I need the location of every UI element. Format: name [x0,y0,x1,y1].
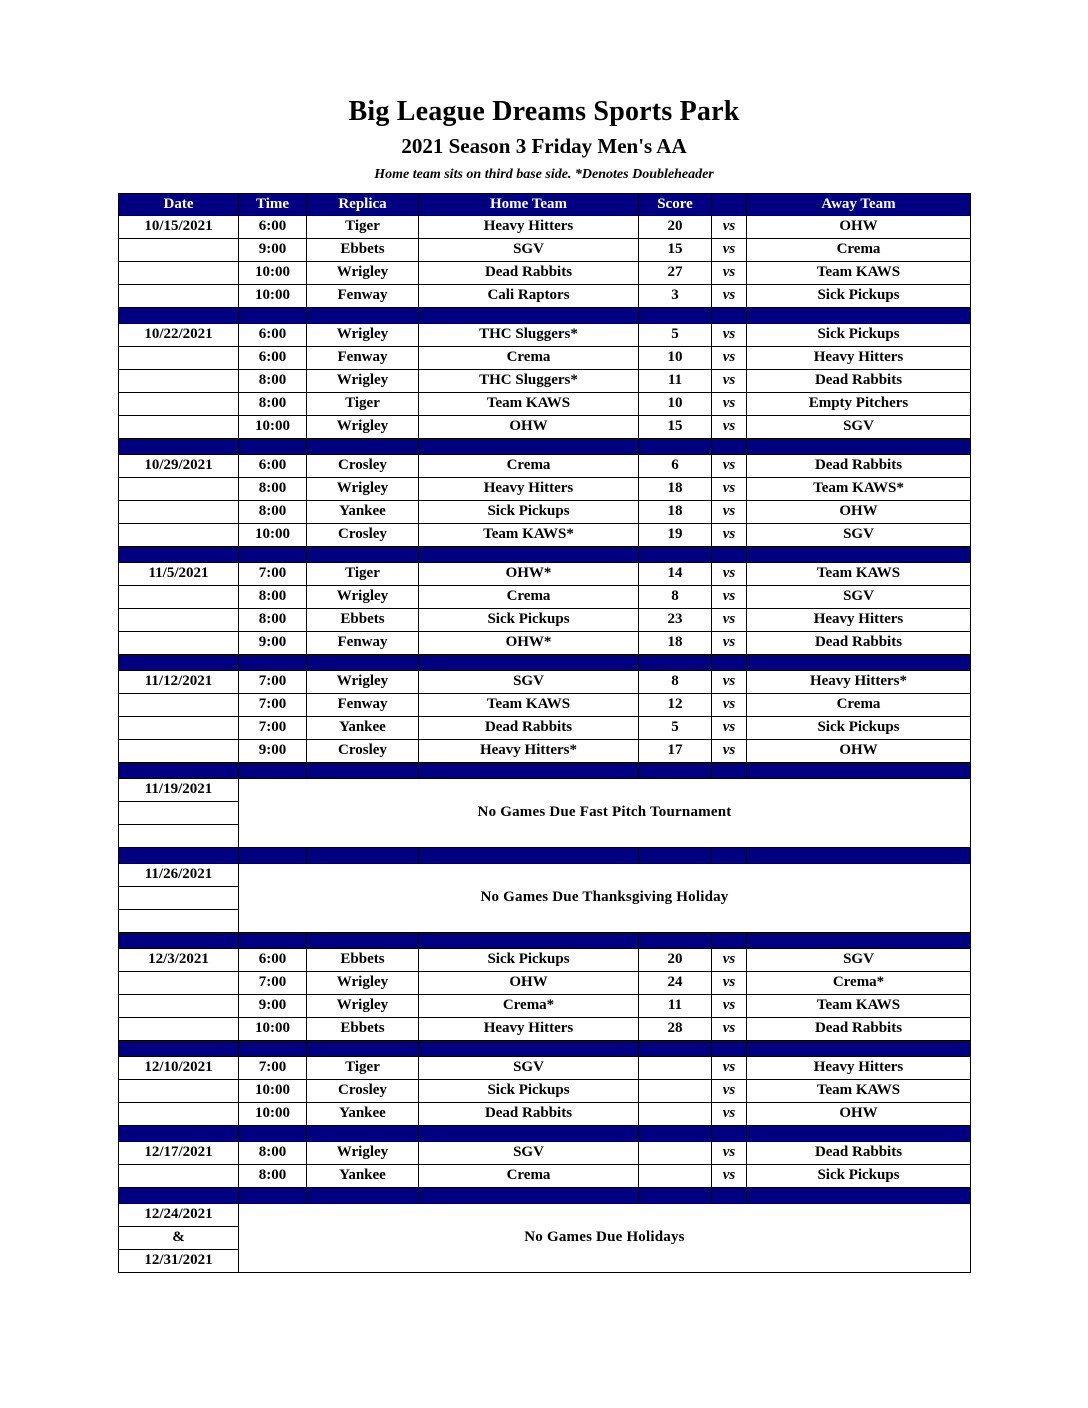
game-score: 10 [639,346,712,369]
game-time: 8:00 [239,369,307,392]
separator-cell [239,762,307,778]
separator-cell [119,1040,239,1056]
home-team: OHW [419,415,639,438]
no-games-date: 12/24/2021 [119,1203,239,1226]
versus-label: vs [712,948,747,971]
table-row: 11/12/20217:00WrigleySGV8vsHeavy Hitters… [119,670,971,693]
game-date: 10/29/2021 [119,454,239,477]
home-team: THC Sluggers* [419,323,639,346]
versus-label: vs [712,1102,747,1125]
game-time: 6:00 [239,215,307,238]
away-team: Heavy Hitters [747,608,971,631]
table-header-row: Date Time Replica Home Team Score Away T… [119,193,971,215]
block-separator-row [119,1040,971,1056]
separator-cell [119,654,239,670]
table-row: 10:00CrosleySick PickupsvsTeam KAWS [119,1079,971,1102]
no-games-date-empty [119,909,239,932]
game-time: 8:00 [239,392,307,415]
separator-cell [419,654,639,670]
versus-label: vs [712,1079,747,1102]
no-games-row: 11/26/2021No Games Due Thanksgiving Holi… [119,863,971,886]
schedule-table-wrapper: Date Time Replica Home Team Score Away T… [118,193,970,1273]
away-team: Crema [747,238,971,261]
game-time: 10:00 [239,261,307,284]
separator-cell [639,438,712,454]
game-replica-field: Yankee [307,500,419,523]
versus-label: vs [712,1056,747,1079]
game-date: 11/12/2021 [119,670,239,693]
separator-cell [712,654,747,670]
table-row: 9:00CrosleyHeavy Hitters*17vsOHW [119,739,971,762]
separator-cell [307,1040,419,1056]
table-row: 10:00WrigleyDead Rabbits27vsTeam KAWS [119,261,971,284]
game-date-empty [119,693,239,716]
game-score: 11 [639,369,712,392]
game-time: 10:00 [239,284,307,307]
separator-cell [419,762,639,778]
separator-cell [239,847,307,863]
table-row: 12/10/20217:00TigerSGVvsHeavy Hitters [119,1056,971,1079]
game-time: 7:00 [239,562,307,585]
column-header-home: Home Team [419,193,639,215]
game-time: 6:00 [239,948,307,971]
game-score [639,1102,712,1125]
separator-cell [747,307,971,323]
away-team: Team KAWS [747,562,971,585]
separator-cell [119,546,239,562]
game-replica-field: Wrigley [307,670,419,693]
home-team: Team KAWS* [419,523,639,546]
separator-cell [747,546,971,562]
block-separator-row [119,1187,971,1203]
game-date-empty [119,739,239,762]
versus-label: vs [712,369,747,392]
game-time: 6:00 [239,346,307,369]
game-time: 10:00 [239,415,307,438]
game-date-empty [119,994,239,1017]
home-team: Team KAWS [419,392,639,415]
game-score: 14 [639,562,712,585]
block-separator-row [119,654,971,670]
game-score [639,1056,712,1079]
table-row: 10:00WrigleyOHW15vsSGV [119,415,971,438]
separator-cell [712,1125,747,1141]
game-time: 7:00 [239,693,307,716]
versus-label: vs [712,346,747,369]
away-team: Team KAWS [747,994,971,1017]
no-games-date: & [119,1226,239,1249]
versus-label: vs [712,994,747,1017]
separator-cell [239,1187,307,1203]
game-time: 9:00 [239,238,307,261]
separator-cell [747,438,971,454]
separator-cell [639,1125,712,1141]
game-date-empty [119,369,239,392]
game-replica-field: Ebbets [307,1017,419,1040]
game-score: 15 [639,415,712,438]
document-header: Big League Dreams Sports Park 2021 Seaso… [0,0,1088,183]
game-score: 24 [639,971,712,994]
home-team: SGV [419,238,639,261]
game-time: 9:00 [239,631,307,654]
table-row: 10/22/20216:00WrigleyTHC Sluggers*5vsSic… [119,323,971,346]
separator-cell [239,546,307,562]
separator-cell [119,932,239,948]
versus-label: vs [712,477,747,500]
away-team: Crema* [747,971,971,994]
away-team: Sick Pickups [747,323,971,346]
game-score [639,1141,712,1164]
table-row: 6:00FenwayCrema10vsHeavy Hitters [119,346,971,369]
game-date: 10/15/2021 [119,215,239,238]
game-replica-field: Crosley [307,523,419,546]
game-score: 6 [639,454,712,477]
game-replica-field: Fenway [307,346,419,369]
versus-label: vs [712,392,747,415]
separator-cell [119,847,239,863]
table-row: 7:00FenwayTeam KAWS12vsCrema [119,693,971,716]
versus-label: vs [712,1141,747,1164]
game-replica-field: Yankee [307,716,419,739]
column-header-score: Score [639,193,712,215]
game-date-empty [119,631,239,654]
no-games-message: No Games Due Fast Pitch Tournament [239,778,971,847]
game-replica-field: Yankee [307,1164,419,1187]
away-team: OHW [747,215,971,238]
page-note: Home team sits on third base side. *Deno… [0,167,1088,183]
block-separator-row [119,546,971,562]
home-team: Crema* [419,994,639,1017]
no-games-date-empty [119,824,239,847]
away-team: Dead Rabbits [747,1141,971,1164]
game-replica-field: Crosley [307,739,419,762]
game-replica-field: Yankee [307,1102,419,1125]
game-replica-field: Ebbets [307,948,419,971]
home-team: Dead Rabbits [419,716,639,739]
no-games-message: No Games Due Thanksgiving Holiday [239,863,971,932]
game-date-empty [119,1164,239,1187]
separator-cell [712,1187,747,1203]
versus-label: vs [712,739,747,762]
game-replica-field: Wrigley [307,585,419,608]
column-header-away: Away Team [747,193,971,215]
column-header-time: Time [239,193,307,215]
separator-cell [639,847,712,863]
away-team: Dead Rabbits [747,454,971,477]
separator-cell [307,438,419,454]
game-date-empty [119,284,239,307]
separator-cell [307,762,419,778]
game-replica-field: Fenway [307,693,419,716]
game-score: 5 [639,323,712,346]
game-score: 10 [639,392,712,415]
no-games-message: No Games Due Holidays [239,1203,971,1272]
separator-cell [419,1125,639,1141]
separator-cell [119,438,239,454]
game-score: 18 [639,631,712,654]
game-date-empty [119,1102,239,1125]
game-score: 11 [639,994,712,1017]
game-time: 7:00 [239,1056,307,1079]
game-time: 10:00 [239,1102,307,1125]
home-team: Cali Raptors [419,284,639,307]
separator-cell [119,1125,239,1141]
game-score: 8 [639,670,712,693]
versus-label: vs [712,1164,747,1187]
separator-cell [307,654,419,670]
separator-cell [239,654,307,670]
game-replica-field: Wrigley [307,971,419,994]
away-team: Sick Pickups [747,284,971,307]
separator-cell [712,546,747,562]
home-team: OHW* [419,562,639,585]
table-row: 8:00WrigleyTHC Sluggers*11vsDead Rabbits [119,369,971,392]
separator-cell [712,438,747,454]
home-team: Sick Pickups [419,1079,639,1102]
versus-label: vs [712,693,747,716]
separator-cell [712,1040,747,1056]
versus-label: vs [712,608,747,631]
game-time: 10:00 [239,1017,307,1040]
game-date-empty [119,716,239,739]
table-row: 8:00YankeeSick Pickups18vsOHW [119,500,971,523]
versus-label: vs [712,716,747,739]
versus-label: vs [712,284,747,307]
table-row: 9:00WrigleyCrema*11vsTeam KAWS [119,994,971,1017]
game-time: 8:00 [239,585,307,608]
game-date-empty [119,500,239,523]
game-time: 10:00 [239,1079,307,1102]
away-team: OHW [747,739,971,762]
game-date-empty [119,392,239,415]
separator-cell [119,1187,239,1203]
game-time: 7:00 [239,971,307,994]
separator-cell [307,1187,419,1203]
game-score: 19 [639,523,712,546]
table-row: 8:00WrigleyCrema8vsSGV [119,585,971,608]
game-score [639,1164,712,1187]
game-score: 18 [639,477,712,500]
away-team: OHW [747,500,971,523]
game-replica-field: Tiger [307,392,419,415]
game-time: 8:00 [239,608,307,631]
home-team: SGV [419,1056,639,1079]
game-time: 9:00 [239,994,307,1017]
home-team: OHW [419,971,639,994]
separator-cell [419,932,639,948]
block-separator-row [119,762,971,778]
versus-label: vs [712,1017,747,1040]
game-replica-field: Ebbets [307,238,419,261]
game-score: 5 [639,716,712,739]
versus-label: vs [712,215,747,238]
game-replica-field: Ebbets [307,608,419,631]
away-team: Team KAWS [747,1079,971,1102]
away-team: Empty Pitchers [747,392,971,415]
away-team: SGV [747,948,971,971]
separator-cell [119,307,239,323]
block-separator-row [119,1125,971,1141]
game-date: 10/22/2021 [119,323,239,346]
game-date-empty [119,523,239,546]
separator-cell [239,1125,307,1141]
no-games-date-empty [119,886,239,909]
away-team: Sick Pickups [747,1164,971,1187]
separator-cell [712,847,747,863]
table-row: 8:00TigerTeam KAWS10vsEmpty Pitchers [119,392,971,415]
versus-label: vs [712,454,747,477]
home-team: THC Sluggers* [419,369,639,392]
separator-cell [419,847,639,863]
separator-cell [639,762,712,778]
game-date: 12/3/2021 [119,948,239,971]
separator-cell [639,307,712,323]
home-team: Team KAWS [419,693,639,716]
game-time: 7:00 [239,670,307,693]
table-row: 9:00EbbetsSGV15vsCrema [119,238,971,261]
game-replica-field: Wrigley [307,1141,419,1164]
separator-cell [639,1040,712,1056]
game-score [639,1079,712,1102]
home-team: Heavy Hitters [419,477,639,500]
game-replica-field: Wrigley [307,415,419,438]
separator-cell [419,546,639,562]
game-time: 10:00 [239,523,307,546]
away-team: Heavy Hitters [747,346,971,369]
game-time: 6:00 [239,323,307,346]
home-team: Crema [419,346,639,369]
home-team: Crema [419,585,639,608]
game-time: 8:00 [239,1164,307,1187]
game-score: 20 [639,948,712,971]
column-header-date: Date [119,193,239,215]
separator-cell [747,847,971,863]
separator-cell [747,762,971,778]
separator-cell [307,546,419,562]
schedule-page: Big League Dreams Sports Park 2021 Seaso… [0,0,1088,1408]
away-team: Sick Pickups [747,716,971,739]
separator-cell [639,654,712,670]
game-time: 6:00 [239,454,307,477]
away-team: Team KAWS* [747,477,971,500]
game-replica-field: Crosley [307,1079,419,1102]
separator-cell [419,438,639,454]
separator-cell [712,932,747,948]
separator-cell [307,932,419,948]
separator-cell [747,932,971,948]
game-score: 28 [639,1017,712,1040]
versus-label: vs [712,631,747,654]
table-row: 10/15/20216:00TigerHeavy Hitters20vsOHW [119,215,971,238]
game-replica-field: Fenway [307,631,419,654]
no-games-date: 12/31/2021 [119,1249,239,1272]
no-games-date-empty [119,801,239,824]
game-date-empty [119,585,239,608]
no-games-row: 11/19/2021No Games Due Fast Pitch Tourna… [119,778,971,801]
versus-label: vs [712,585,747,608]
game-time: 7:00 [239,716,307,739]
separator-cell [747,1040,971,1056]
game-replica-field: Tiger [307,562,419,585]
game-date-empty [119,415,239,438]
separator-cell [419,1040,639,1056]
table-row: 7:00YankeeDead Rabbits5vsSick Pickups [119,716,971,739]
game-score: 3 [639,284,712,307]
separator-cell [307,1125,419,1141]
game-replica-field: Wrigley [307,261,419,284]
block-separator-row [119,932,971,948]
separator-cell [747,654,971,670]
versus-label: vs [712,415,747,438]
versus-label: vs [712,670,747,693]
separator-cell [239,307,307,323]
away-team: SGV [747,585,971,608]
game-score: 12 [639,693,712,716]
no-games-row: 12/24/2021No Games Due Holidays [119,1203,971,1226]
home-team: Sick Pickups [419,948,639,971]
schedule-table: Date Time Replica Home Team Score Away T… [118,193,971,1273]
versus-label: vs [712,500,747,523]
no-games-date: 11/19/2021 [119,778,239,801]
separator-cell [747,1187,971,1203]
away-team: Team KAWS [747,261,971,284]
game-date-empty [119,1017,239,1040]
away-team: SGV [747,415,971,438]
page-subtitle: 2021 Season 3 Friday Men's AA [0,133,1088,159]
no-games-date: 11/26/2021 [119,863,239,886]
block-separator-row [119,847,971,863]
home-team: SGV [419,1141,639,1164]
separator-cell [307,307,419,323]
versus-label: vs [712,323,747,346]
home-team: SGV [419,670,639,693]
separator-cell [307,847,419,863]
versus-label: vs [712,238,747,261]
game-date-empty [119,346,239,369]
game-score: 27 [639,261,712,284]
separator-cell [419,307,639,323]
home-team: Heavy Hitters* [419,739,639,762]
table-row: 8:00YankeeCremavsSick Pickups [119,1164,971,1187]
separator-cell [639,932,712,948]
table-row: 10:00FenwayCali Raptors3vsSick Pickups [119,284,971,307]
game-replica-field: Wrigley [307,323,419,346]
game-date-empty [119,971,239,994]
game-date-empty [119,1079,239,1102]
away-team: Dead Rabbits [747,631,971,654]
separator-cell [712,762,747,778]
table-row: 12/17/20218:00WrigleySGVvsDead Rabbits [119,1141,971,1164]
game-replica-field: Tiger [307,215,419,238]
page-title: Big League Dreams Sports Park [0,96,1088,127]
table-row: 11/5/20217:00TigerOHW*14vsTeam KAWS [119,562,971,585]
table-row: 7:00WrigleyOHW24vsCrema* [119,971,971,994]
table-row: 12/3/20216:00EbbetsSick Pickups20vsSGV [119,948,971,971]
versus-label: vs [712,562,747,585]
versus-label: vs [712,523,747,546]
away-team: Heavy Hitters [747,1056,971,1079]
separator-cell [239,932,307,948]
separator-cell [419,1187,639,1203]
column-header-vs [712,193,747,215]
away-team: SGV [747,523,971,546]
separator-cell [712,307,747,323]
game-score: 20 [639,215,712,238]
separator-cell [239,1040,307,1056]
table-row: 10:00CrosleyTeam KAWS*19vsSGV [119,523,971,546]
home-team: Heavy Hitters [419,215,639,238]
away-team: Crema [747,693,971,716]
